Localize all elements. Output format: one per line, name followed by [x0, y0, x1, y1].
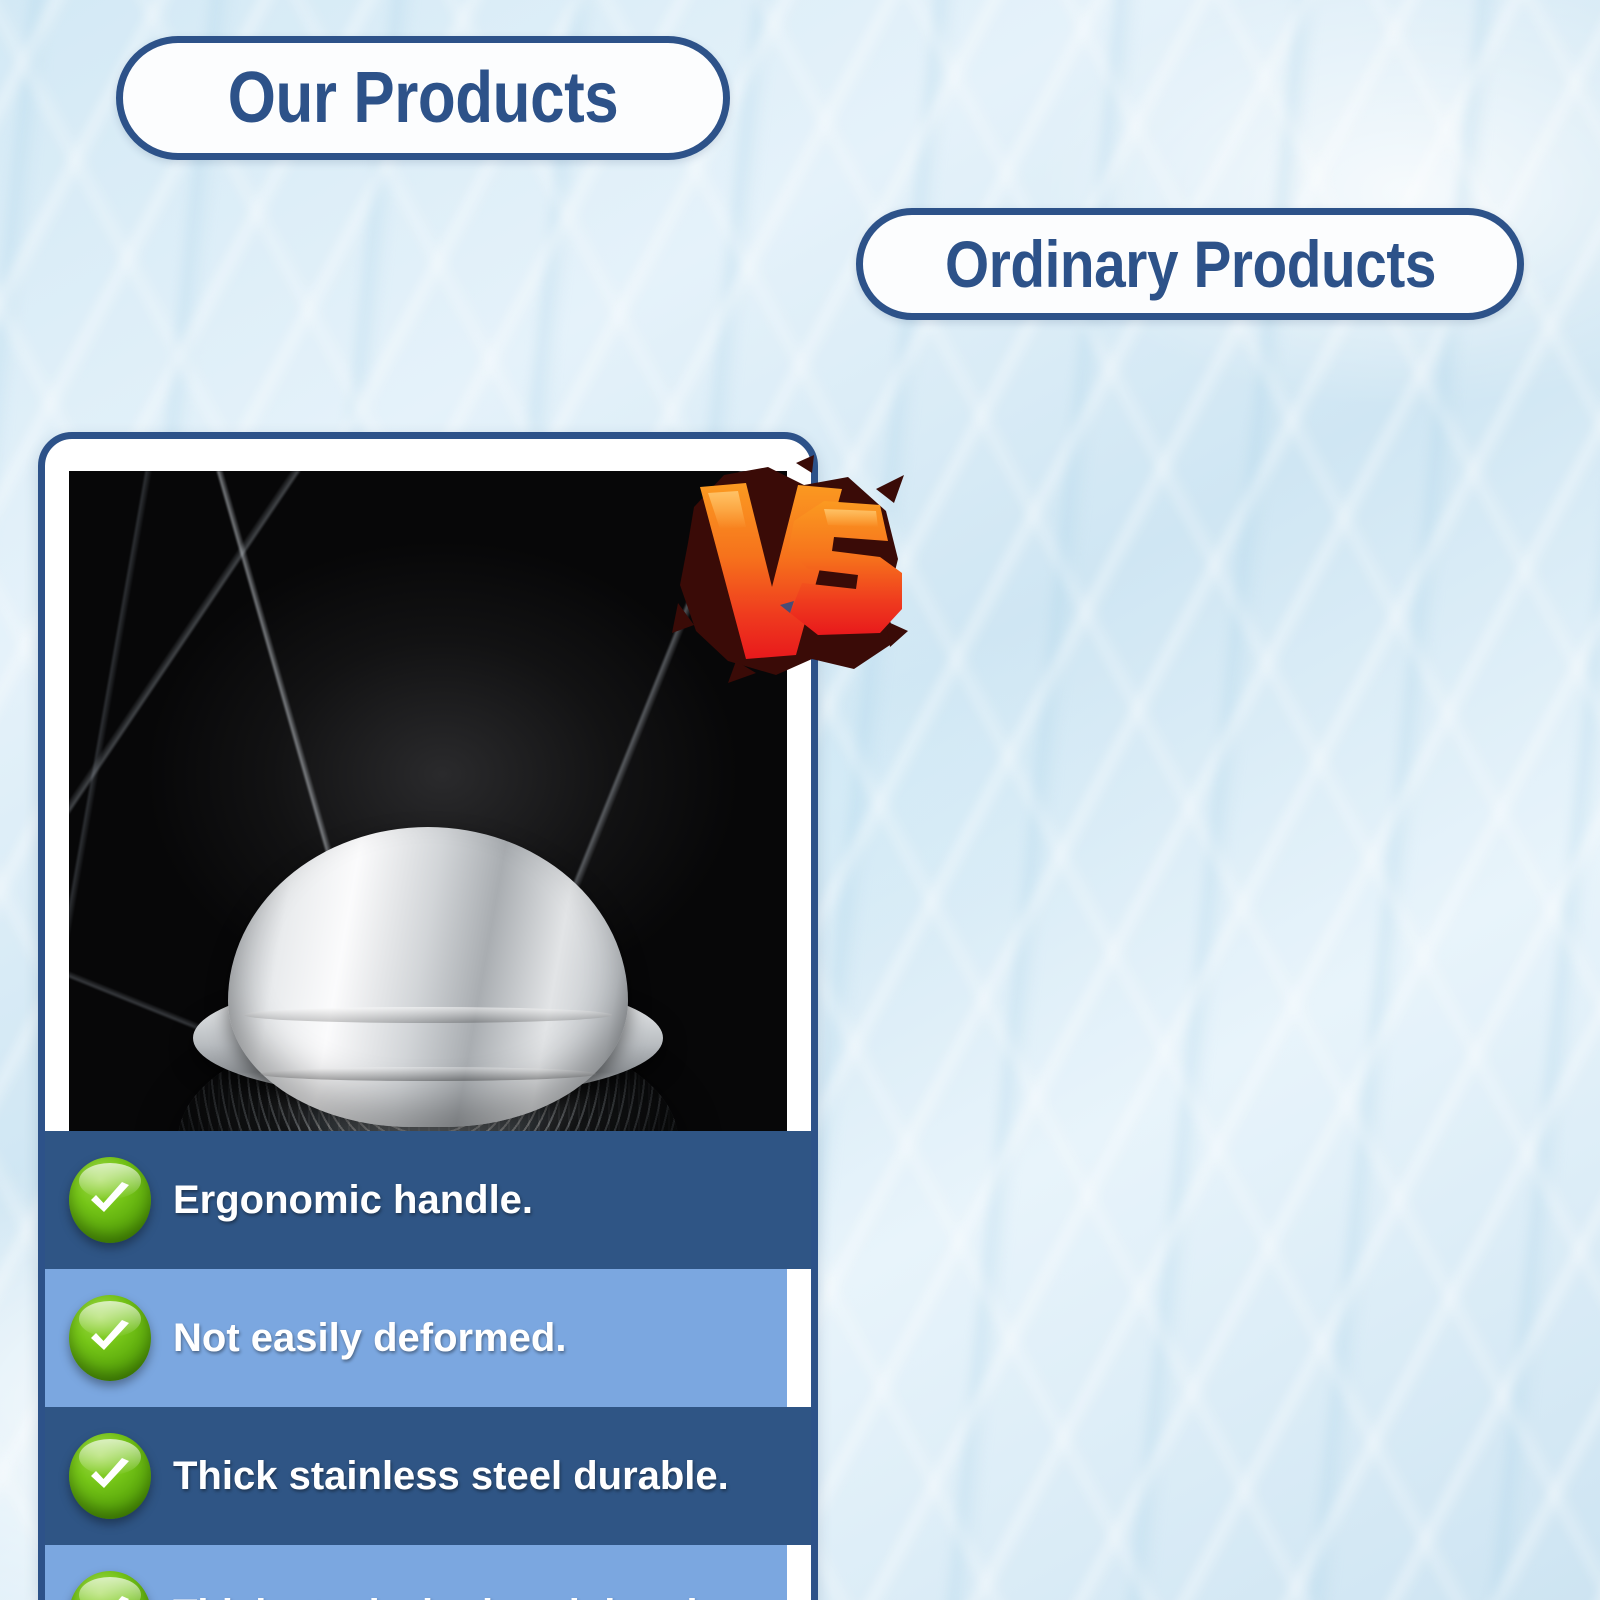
header-badge-ordinary-products: Ordinary Products — [856, 208, 1524, 320]
header-label-ordinary-products: Ordinary Products — [944, 226, 1435, 302]
feature-label: Thick stainless steel durable. — [173, 1454, 729, 1499]
infographic-page: Our Products Ordinary Products Ergon — [0, 0, 1600, 1600]
feature-label: Not easily deformed. — [173, 1316, 566, 1361]
feature-label: Thick steel wire brush head. — [173, 1592, 709, 1600]
header-label-our-products: Our Products — [228, 57, 618, 139]
check-icon — [69, 1433, 151, 1519]
header-badge-our-products: Our Products — [116, 36, 730, 160]
feature-row-not-easily-deformed[interactable]: Not easily deformed. — [45, 1269, 787, 1407]
feature-row-thick-steel-wire-brush-head[interactable]: Thick steel wire brush head. — [45, 1545, 787, 1600]
check-icon — [69, 1157, 151, 1243]
our-product-photo — [69, 471, 787, 1131]
our-products-feature-list: Ergonomic handle. Not easily deformed. T… — [45, 1131, 811, 1600]
feature-label: Ergonomic handle. — [173, 1178, 533, 1223]
our-products-card: Ergonomic handle. Not easily deformed. T… — [38, 432, 818, 1600]
check-icon — [69, 1571, 151, 1600]
feature-row-thick-stainless-steel-durable[interactable]: Thick stainless steel durable. — [45, 1407, 811, 1545]
feature-row-ergonomic-handle[interactable]: Ergonomic handle. — [45, 1131, 811, 1269]
check-icon — [69, 1295, 151, 1381]
